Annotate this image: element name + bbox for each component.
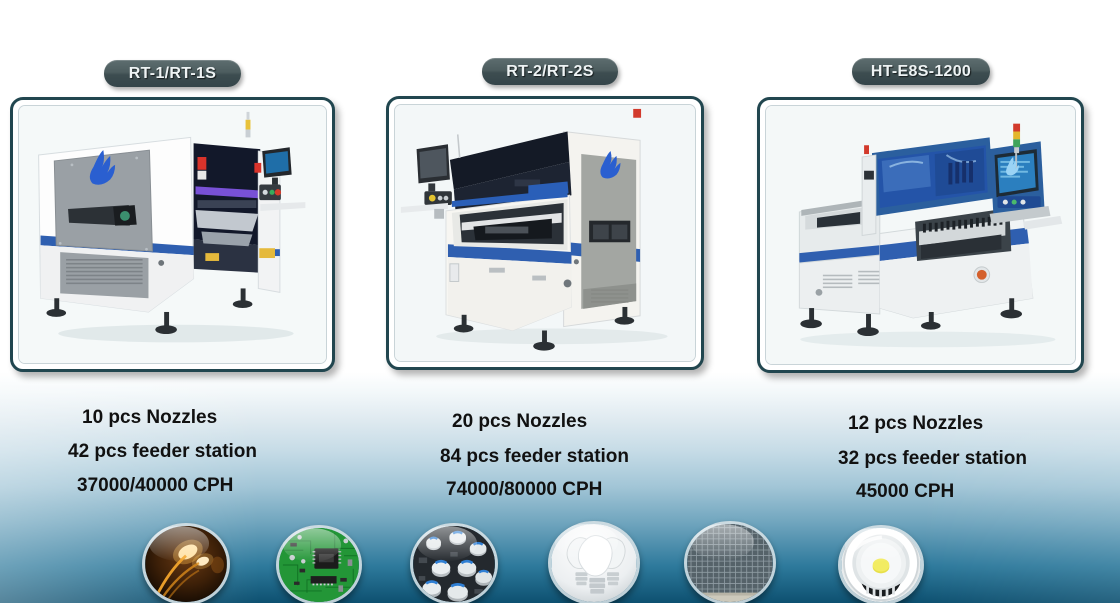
- product-image-inner-ht-e8s-1200: [765, 105, 1076, 365]
- led-bulbs-icon: [551, 524, 637, 602]
- spec-cph: 37000/40000 CPH: [77, 476, 257, 495]
- app-circle-led-bulbs[interactable]: [548, 521, 640, 603]
- product-image-frame-rt-1[interactable]: [10, 97, 335, 372]
- photo-rt-2-machine: [395, 105, 695, 362]
- app-circle-capacitor-board[interactable]: [410, 523, 498, 603]
- spec-cph: 74000/80000 CPH: [446, 480, 629, 499]
- app-circle-inner: [841, 528, 921, 602]
- app-circle-inner: [145, 526, 227, 602]
- product-title-pill-rt-2: RT-2/RT-2S: [482, 58, 618, 85]
- product-image-frame-ht-e8s-1200[interactable]: [757, 97, 1084, 373]
- app-circle-inner: [413, 526, 495, 602]
- product-specs-ht-e8s-1200: 12 pcs Nozzles 32 pcs feeder station 450…: [838, 414, 1027, 501]
- app-circle-led-filament-lamp[interactable]: [142, 523, 230, 603]
- app-circle-green-pcb[interactable]: [276, 525, 362, 603]
- capacitor-board-icon: [413, 526, 495, 602]
- app-circle-led-downlight[interactable]: [838, 525, 924, 603]
- spec-nozzles: 10 pcs Nozzles: [82, 408, 257, 427]
- app-circle-led-display-panel[interactable]: [684, 521, 776, 603]
- spec-feeder: 42 pcs feeder station: [68, 442, 257, 461]
- spec-nozzles: 12 pcs Nozzles: [848, 414, 1027, 433]
- photo-ht-e8s-1200-machine: [766, 106, 1075, 365]
- product-title-pill-ht-e8s-1200: HT-E8S-1200: [852, 58, 990, 85]
- led-downlight-icon: [841, 528, 921, 602]
- spec-feeder: 84 pcs feeder station: [440, 447, 629, 466]
- led-filament-lamp-icon: [145, 526, 227, 602]
- product-title-label: RT-1/RT-1S: [129, 65, 216, 83]
- spec-cph: 45000 CPH: [856, 482, 1027, 501]
- product-specs-rt-1: 10 pcs Nozzles 42 pcs feeder station 370…: [68, 408, 257, 495]
- app-circle-inner: [279, 528, 359, 602]
- product-title-label: RT-2/RT-2S: [506, 63, 593, 81]
- product-title-label: HT-E8S-1200: [871, 63, 971, 81]
- product-image-inner-rt-1: [18, 105, 327, 364]
- app-circle-inner: [551, 524, 637, 602]
- product-title-pill-rt-1: RT-1/RT-1S: [104, 60, 241, 87]
- spec-nozzles: 20 pcs Nozzles: [452, 412, 629, 431]
- green-pcb-board-icon: [279, 528, 359, 602]
- product-image-inner-rt-2: [394, 104, 696, 362]
- product-image-frame-rt-2[interactable]: [386, 96, 704, 370]
- app-circle-inner: [687, 524, 773, 602]
- spec-feeder: 32 pcs feeder station: [838, 449, 1027, 468]
- product-specs-rt-2: 20 pcs Nozzles 84 pcs feeder station 740…: [440, 412, 629, 499]
- product-showcase-banner: RT-1/RT-1S: [0, 0, 1120, 603]
- led-display-panel-icon: [687, 524, 773, 602]
- photo-rt-1-machine: [19, 106, 326, 364]
